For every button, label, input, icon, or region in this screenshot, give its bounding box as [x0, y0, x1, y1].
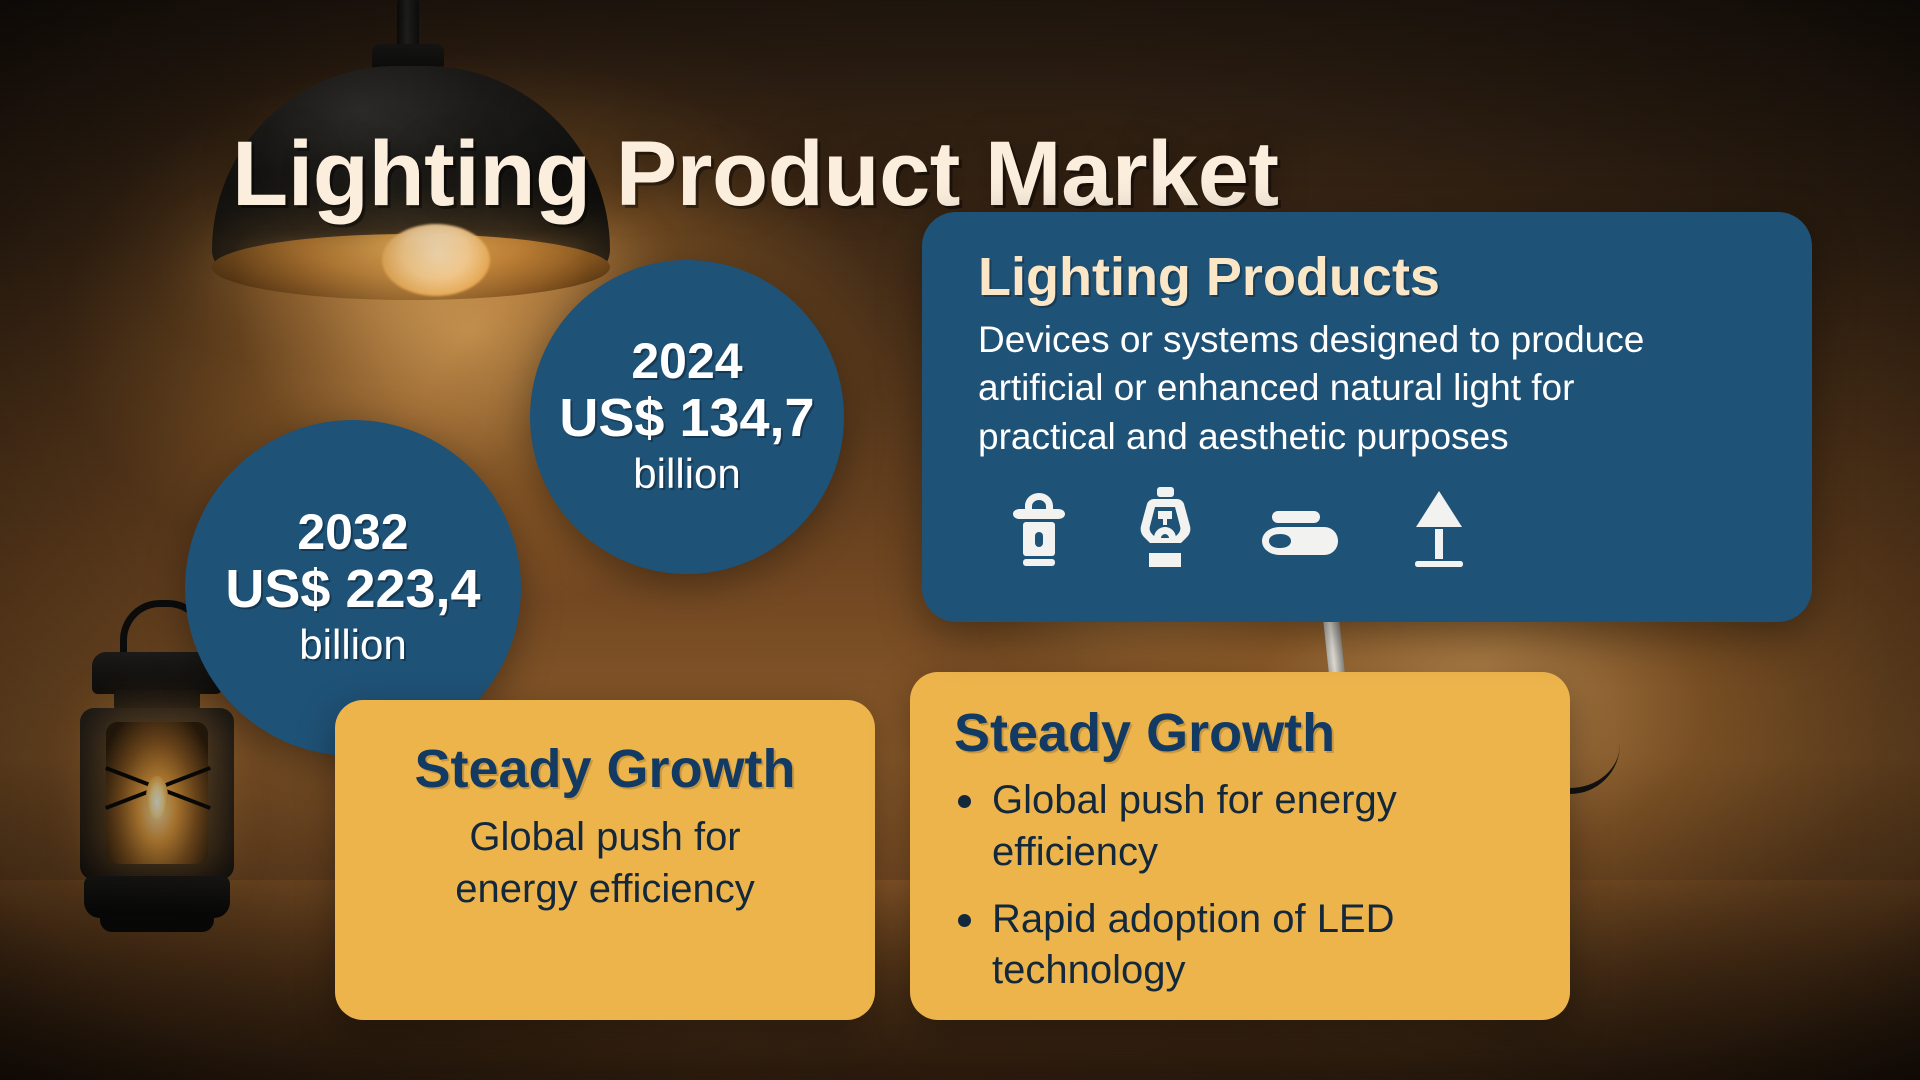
list-item: Rapid adoption of LED technology	[954, 894, 1526, 996]
growth-card-right: Steady Growth Global push for energy eff…	[910, 672, 1570, 1020]
definition-card-title: Lighting Products	[978, 248, 1756, 306]
growth-left-line-1: Global push for	[469, 815, 740, 859]
growth-card-left: Steady Growth Global push for energy eff…	[335, 700, 875, 1020]
product-icon-row	[978, 487, 1756, 567]
growth-left-line-2: energy efficiency	[455, 867, 754, 911]
definition-card-body: Devices or systems designed to produce a…	[978, 316, 1756, 460]
definition-line-2: artificial or enhanced natural light for	[978, 367, 1574, 408]
growth-card-right-list: Global push for energy efficiency Rapid …	[954, 775, 1526, 996]
stat-year-2032: 2032	[297, 506, 408, 559]
growth-card-right-title: Steady Growth	[954, 704, 1526, 763]
stat-year-2024: 2024	[631, 335, 742, 388]
stat-unit-2024: billion	[633, 449, 740, 499]
growth-card-left-title: Steady Growth	[373, 740, 837, 799]
stat-circle-2024: 2024 US$ 134,7 billion	[530, 260, 844, 574]
oil-lantern-icon	[1132, 487, 1198, 567]
flashlight-icon	[1258, 511, 1344, 567]
stat-value-2024: US$ 134,7	[559, 388, 814, 448]
growth-card-left-text: Global push for energy efficiency	[373, 811, 837, 915]
definition-card: Lighting Products Devices or systems des…	[922, 212, 1812, 622]
definition-line-3: practical and aesthetic purposes	[978, 416, 1509, 457]
stat-unit-2032: billion	[299, 620, 406, 670]
infographic-canvas: Lighting Product Market 2032 US$ 223,4 b…	[0, 0, 1920, 1080]
stat-value-2032: US$ 223,4	[225, 559, 480, 619]
page-title: Lighting Product Market	[232, 122, 1652, 227]
definition-line-1: Devices or systems designed to produce	[978, 319, 1644, 360]
table-lamp-icon	[1404, 489, 1474, 567]
camping-lantern-icon	[1006, 489, 1072, 567]
list-item: Global push for energy efficiency	[954, 775, 1526, 877]
